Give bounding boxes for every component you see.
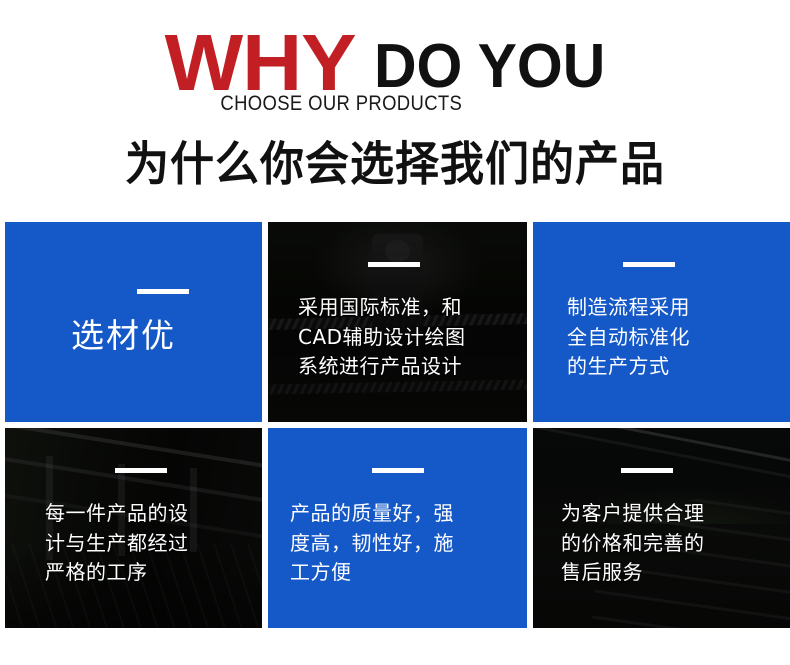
feature-card-6[interactable]: 为客户提供合理 的价格和完善的 售后服务 [533, 428, 790, 628]
feature-card-4-content: 每一件产品的设 计与生产都经过 严格的工序 [5, 468, 262, 588]
page-header: WHY DO YOU CHOOSE OUR PRODUCTS 为什么你会选择我们… [0, 0, 790, 212]
feature-card-6-content: 为客户提供合理 的价格和完善的 售后服务 [533, 468, 790, 588]
feature-card-1[interactable]: 选材优 [5, 222, 262, 422]
divider-dash-icon [137, 289, 189, 294]
feature-card-1-text: 选材优 [71, 316, 248, 356]
divider-dash-icon [623, 262, 675, 267]
feature-card-2-text: 采用国际标准，和 CAD辅助设计绘图 系统进行产品设计 [298, 293, 513, 382]
feature-card-2-content: 采用国际标准，和 CAD辅助设计绘图 系统进行产品设计 [268, 262, 527, 382]
feature-card-4[interactable]: 每一件产品的设 计与生产都经过 严格的工序 [5, 428, 262, 628]
divider-dash-icon [621, 468, 673, 473]
headline-row: WHY DO YOU [0, 16, 790, 96]
headline-rest: DO YOU [374, 41, 605, 93]
feature-card-4-text: 每一件产品的设 计与生产都经过 严格的工序 [45, 499, 248, 588]
divider-dash-icon [368, 262, 420, 267]
subtitle-chinese: 为什么你会选择我们的产品 [0, 126, 790, 194]
feature-card-5-content: 产品的质量好，强 度高，韧性好，施 工方便 [268, 468, 527, 588]
divider-dash-icon [372, 468, 424, 473]
headline-highlight: WHY [165, 29, 356, 96]
feature-card-3-content: 制造流程采用 全自动标准化 的生产方式 [533, 262, 790, 382]
feature-grid: 选材优 采用国际标准，和 CAD辅助设计绘图 系统进行产品设计 制造流程采用 全… [5, 222, 785, 643]
divider-dash-icon [115, 468, 167, 473]
feature-card-6-text: 为客户提供合理 的价格和完善的 售后服务 [561, 499, 777, 588]
feature-card-5[interactable]: 产品的质量好，强 度高，韧性好，施 工方便 [268, 428, 527, 628]
feature-card-5-text: 产品的质量好，强 度高，韧性好，施 工方便 [290, 499, 513, 588]
feature-card-2[interactable]: 采用国际标准，和 CAD辅助设计绘图 系统进行产品设计 [268, 222, 527, 422]
subtitle-english: CHOOSE OUR PRODUCTS [47, 92, 742, 116]
feature-card-3-text: 制造流程采用 全自动标准化 的生产方式 [567, 293, 777, 382]
feature-card-3[interactable]: 制造流程采用 全自动标准化 的生产方式 [533, 222, 790, 422]
feature-card-1-content: 选材优 [5, 289, 262, 356]
